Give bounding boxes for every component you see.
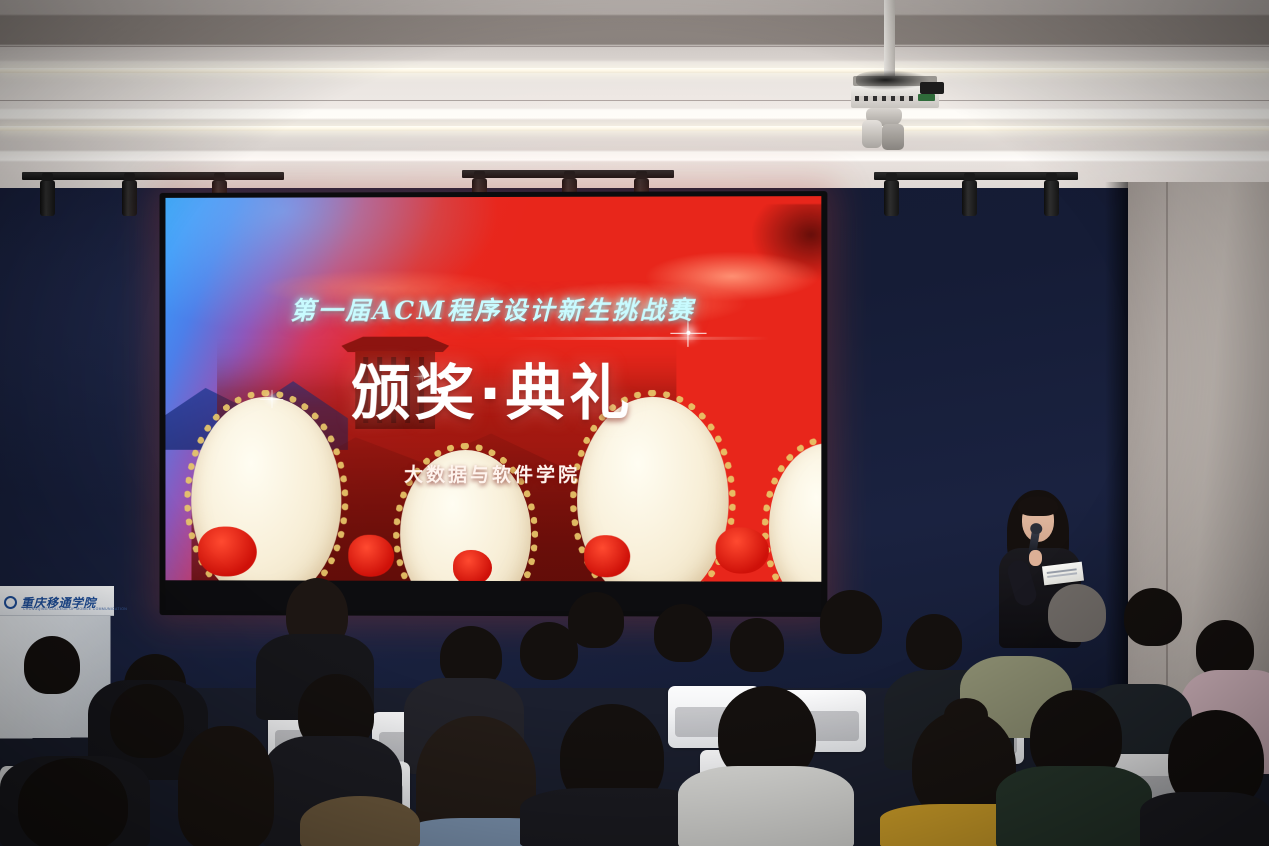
audience-hoodie: [678, 766, 854, 846]
sparkle-star-icon: [686, 331, 690, 335]
audience-head: [820, 590, 882, 654]
audience-torso: [1140, 792, 1269, 846]
audience-area: [0, 560, 1269, 846]
audience-head: [654, 604, 712, 662]
projector-cables: [856, 70, 930, 90]
track-light-rail: [22, 172, 284, 180]
spotlight-fixture: [1044, 180, 1059, 216]
projector-head: [862, 120, 882, 148]
ceiling-light-tint: [0, 0, 1269, 190]
audience-head: [730, 618, 784, 672]
audience-head: [906, 614, 962, 670]
led-screen: 第一届ACM程序设计新生挑战赛 颁奖·典礼 大数据与软件学院: [165, 196, 821, 582]
audience-torso: [996, 766, 1152, 846]
audience-head: [18, 758, 128, 846]
projector-lens-housing: [882, 124, 904, 150]
led-screen-frame: 第一届ACM程序设计新生挑战赛 颁奖·典礼 大数据与软件学院: [160, 191, 828, 617]
audience-head: [568, 592, 624, 648]
event-title: 第一届ACM程序设计新生挑战赛: [165, 291, 821, 328]
audience-head-long-hair: [178, 726, 274, 846]
host-fringe: [1018, 496, 1058, 516]
audience-head: [1048, 584, 1106, 642]
lens-flare: [505, 337, 768, 340]
projector-vent: [855, 96, 913, 101]
audience-hair-bun: [944, 698, 988, 732]
audience-head: [110, 684, 184, 758]
auditorium-photo: 第一届ACM程序设计新生挑战赛 颁奖·典礼 大数据与软件学院 重庆移通学院 CH…: [0, 0, 1269, 846]
projector-indicator: [918, 94, 935, 101]
ceremony-main-title: 颁奖·典礼: [165, 345, 821, 432]
spotlight-fixture: [40, 180, 55, 216]
spotlight-fixture: [884, 180, 899, 216]
audience-head: [1124, 588, 1182, 646]
audience-head: [300, 796, 420, 846]
spotlight-fixture: [962, 180, 977, 216]
spotlight-fixture: [122, 180, 137, 216]
projector-connector: [920, 82, 944, 94]
audience-head: [24, 636, 80, 694]
organizer-label: 大数据与软件学院: [165, 460, 821, 488]
